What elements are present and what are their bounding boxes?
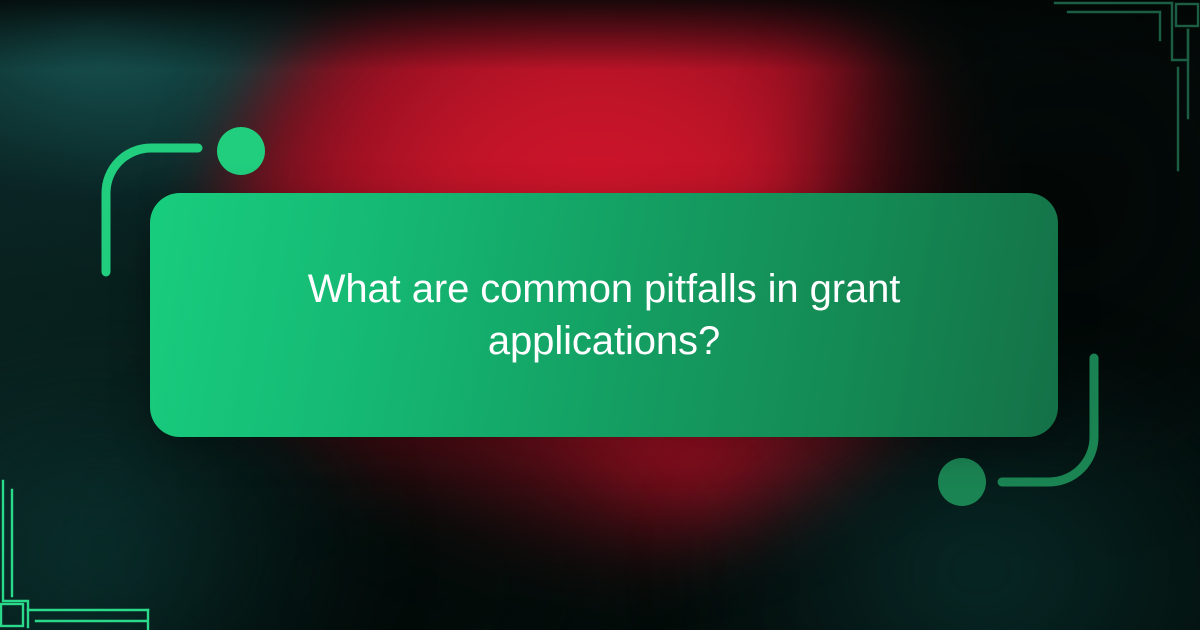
quote-card-canvas: What are common pitfalls in grant applic… xyxy=(0,0,1200,630)
question-card: What are common pitfalls in grant applic… xyxy=(150,193,1058,437)
question-text: What are common pitfalls in grant applic… xyxy=(224,263,984,367)
background-top-vignette xyxy=(0,0,1200,70)
